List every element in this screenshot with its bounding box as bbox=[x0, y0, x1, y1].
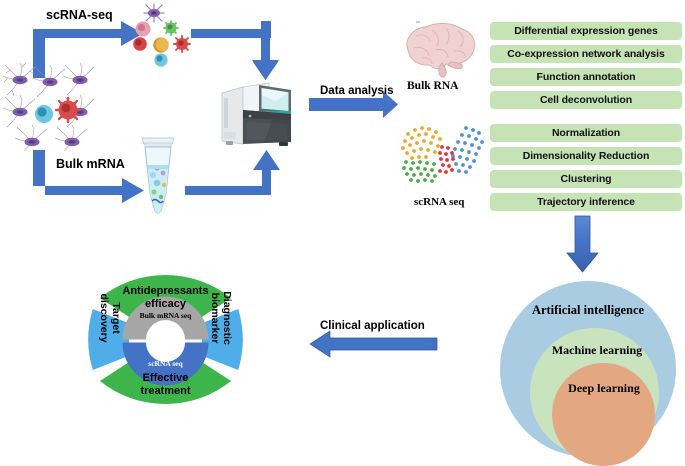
analysis-box-co-expression-network-analysis[interactable]: Co-expression network analysis bbox=[490, 45, 682, 63]
scrna-cluster-scatter bbox=[396, 120, 492, 195]
analysis-box-trajectory-inference[interactable]: Trajectory inference bbox=[490, 193, 682, 211]
analysis-box-normalization[interactable]: Normalization bbox=[490, 124, 682, 142]
analysis-box-function-annotation[interactable]: Function annotation bbox=[490, 68, 682, 86]
machine-learning-label: Machine learning bbox=[518, 343, 676, 358]
brain-illustration bbox=[398, 20, 480, 78]
label-scrna-seq: scRNA-seq bbox=[46, 8, 113, 22]
arrow-clinical-application bbox=[310, 331, 437, 357]
analysis-box-clustering[interactable]: Clustering bbox=[490, 170, 682, 188]
single-cells-illustration bbox=[128, 2, 204, 68]
neuron-network-illustration bbox=[2, 62, 96, 152]
arrow-tube-to-sequencer bbox=[185, 150, 280, 195]
deep-learning-label: Deep learning bbox=[548, 381, 660, 396]
deep-learning-circle[interactable] bbox=[552, 363, 655, 466]
label-bulk-rna: Bulk RNA bbox=[407, 80, 458, 92]
eppendorf-tube-illustration bbox=[134, 135, 182, 217]
segment-label-effective-treatment: Effective treatment bbox=[103, 372, 228, 397]
artificial-intelligence-label: Artificial intelligence bbox=[500, 303, 676, 318]
application-wheel: Antidepressants efficacy Diagnostic biom… bbox=[58, 232, 273, 447]
hub-label-scrna-seq: scRNA seq bbox=[102, 359, 229, 368]
arrow-scrna-to-sequencer bbox=[191, 21, 279, 80]
arrow-to-ai bbox=[567, 216, 598, 272]
ai-venn-group: Artificial intelligence Machine learning… bbox=[500, 281, 676, 457]
workflow-diagram: scRNA-seq Bulk mRNA Data analysis Clinic… bbox=[0, 0, 685, 458]
analysis-box-dimensionality-reduction[interactable]: Dimensionality Reduction bbox=[490, 147, 682, 165]
label-data-analysis: Data analysis bbox=[320, 85, 394, 97]
label-bulk-mrna: Bulk mRNA bbox=[56, 157, 125, 171]
hub-label-bulk-mrna-seq: Bulk mRNA seq bbox=[102, 311, 229, 320]
analysis-box-differential-expression-genes[interactable]: Differential expression genes bbox=[490, 22, 682, 40]
sequencer-machine-illustration bbox=[219, 80, 295, 150]
analysis-box-cell-deconvolution[interactable]: Cell deconvolution bbox=[490, 91, 682, 109]
label-clinical-application: Clinical application bbox=[320, 320, 425, 332]
label-scrna-seq-scatter: scRNA seq bbox=[414, 196, 464, 208]
